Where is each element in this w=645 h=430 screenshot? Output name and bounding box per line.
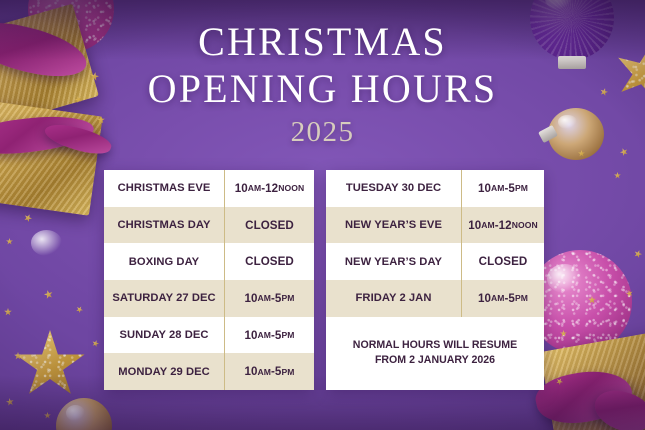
table-row: SATURDAY 27 DEC10AM-5PM (104, 280, 314, 317)
day-label: MONDAY 29 DEC (104, 353, 224, 390)
day-label: NEW YEAR’S EVE (326, 207, 461, 244)
day-label: FRIDAY 2 JAN (326, 280, 461, 317)
hours-value: CLOSED (224, 207, 314, 244)
day-label: TUESDAY 30 DEC (326, 170, 461, 207)
hours-value: CLOSED (224, 243, 314, 280)
hours-value: 10AM-5PM (224, 280, 314, 317)
resume-notice: NORMAL HOURS WILL RESUMEFROM 2 JANUARY 2… (326, 317, 544, 390)
opening-hours-table-left: CHRISTMAS EVE10AM-12NOONCHRISTMAS DAYCLO… (104, 170, 314, 390)
resume-notice-line-1: NORMAL HOURS WILL RESUME (353, 339, 517, 351)
hours-value: 10AM-12NOON (224, 170, 314, 207)
hours-value: 10AM-5PM (224, 317, 314, 354)
day-label: SATURDAY 27 DEC (104, 280, 224, 317)
vignette-overlay (0, 0, 645, 430)
table-row: CHRISTMAS EVE10AM-12NOON (104, 170, 314, 207)
day-label: NEW YEAR’S DAY (326, 243, 461, 280)
day-label: BOXING DAY (104, 243, 224, 280)
table-row: MONDAY 29 DEC10AM-5PM (104, 353, 314, 390)
day-label: CHRISTMAS DAY (104, 207, 224, 244)
opening-hours-table-right: TUESDAY 30 DEC10AM-5PMNEW YEAR’S EVE10AM… (326, 170, 544, 390)
decorative-background (0, 0, 645, 430)
table-row: NEW YEAR’S EVE10AM-12NOON (326, 207, 544, 244)
hours-value: 10AM-5PM (461, 280, 544, 317)
hours-value: 10AM-5PM (224, 353, 314, 390)
table-row: NEW YEAR’S DAYCLOSED (326, 243, 544, 280)
table-row: CHRISTMAS DAYCLOSED (104, 207, 314, 244)
day-label: SUNDAY 28 DEC (104, 317, 224, 354)
table-row: FRIDAY 2 JAN10AM-5PM (326, 280, 544, 317)
hours-value: CLOSED (461, 243, 544, 280)
table-row: BOXING DAYCLOSED (104, 243, 314, 280)
resume-notice-line-2: FROM 2 JANUARY 2026 (375, 354, 495, 366)
table-row: TUESDAY 30 DEC10AM-5PM (326, 170, 544, 207)
table-row: SUNDAY 28 DEC10AM-5PM (104, 317, 314, 354)
hours-value: 10AM-12NOON (461, 207, 544, 244)
day-label: CHRISTMAS EVE (104, 170, 224, 207)
hours-value: 10AM-5PM (461, 170, 544, 207)
